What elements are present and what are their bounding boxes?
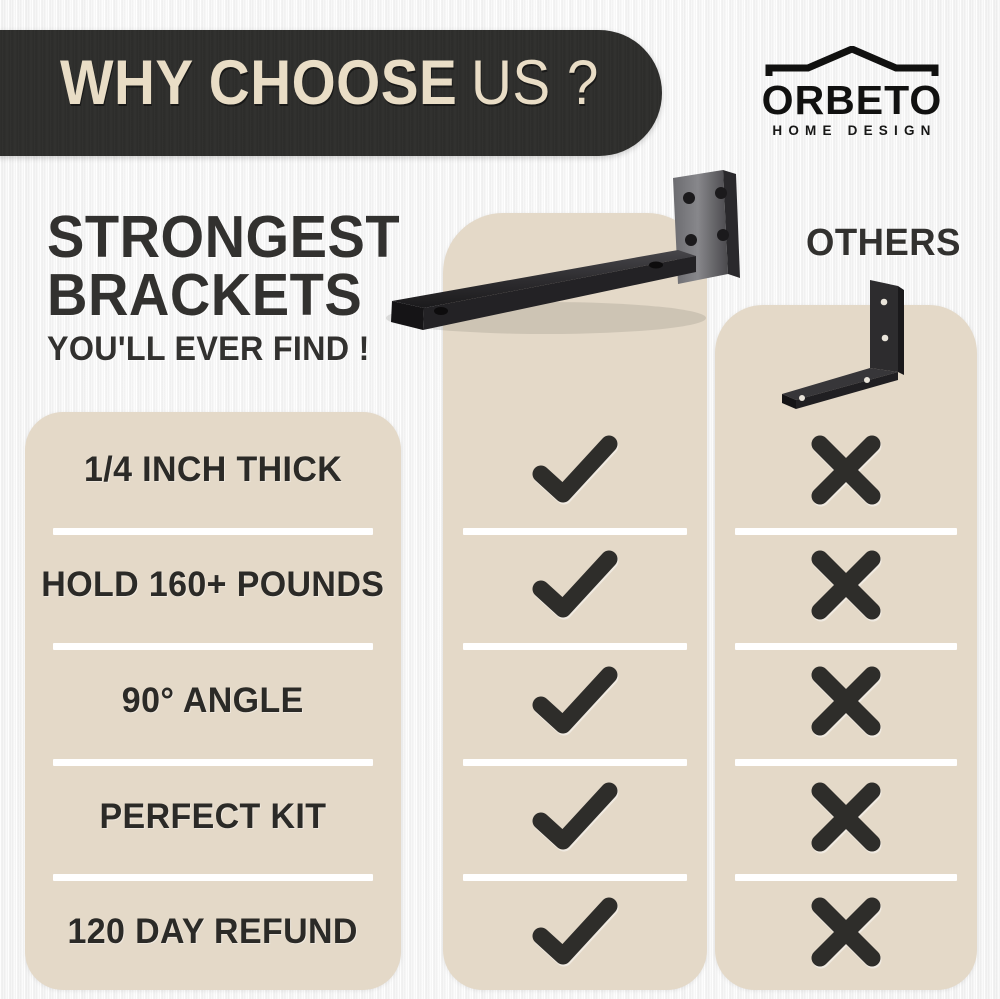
feature-label: 120 DAY REFUND bbox=[68, 912, 358, 952]
others-mark-row bbox=[715, 412, 977, 528]
feature-label: 1/4 INCH THICK bbox=[84, 450, 342, 490]
brand-logo: ORBETO HOME DESIGN bbox=[752, 46, 952, 138]
brand-name: ORBETO bbox=[752, 80, 952, 120]
feature-row: 120 DAY REFUND bbox=[25, 874, 401, 990]
us-mark-row bbox=[443, 759, 707, 875]
page-title-light: US ? bbox=[471, 50, 599, 116]
cross-icon bbox=[805, 545, 887, 625]
others-mark-row bbox=[715, 874, 977, 990]
us-mark-row bbox=[443, 412, 707, 528]
check-icon bbox=[527, 661, 623, 741]
headline-line-2: BRACKETS bbox=[47, 266, 400, 324]
feature-label: HOLD 160+ POUNDS bbox=[42, 565, 385, 605]
feature-label: PERFECT KIT bbox=[100, 797, 327, 837]
cross-icon bbox=[805, 430, 887, 510]
others-column-label: OTHERS bbox=[806, 222, 961, 265]
headline-line-1: STRONGEST bbox=[47, 208, 400, 266]
feature-row: 1/4 INCH THICK bbox=[25, 412, 401, 528]
features-panel: 1/4 INCH THICKHOLD 160+ POUNDS90° ANGLEP… bbox=[25, 412, 401, 990]
others-mark-row bbox=[715, 759, 977, 875]
check-icon bbox=[527, 892, 623, 972]
cross-icon bbox=[805, 777, 887, 857]
feature-row: PERFECT KIT bbox=[25, 759, 401, 875]
others-mark-row bbox=[715, 528, 977, 644]
headline-line-3: YOU'LL EVER FIND ! bbox=[47, 328, 400, 370]
others-row-list bbox=[715, 412, 977, 990]
brand-tagline: HOME DESIGN bbox=[752, 123, 952, 138]
infographic-page: WHY CHOOSEUS ? ORBETO HOME DESIGN STRONG… bbox=[0, 0, 1000, 999]
others-mark-row bbox=[715, 643, 977, 759]
check-icon bbox=[527, 545, 623, 625]
cross-icon bbox=[805, 661, 887, 741]
us-row-list bbox=[443, 412, 707, 990]
feature-row: HOLD 160+ POUNDS bbox=[25, 528, 401, 644]
cross-icon bbox=[805, 892, 887, 972]
page-title: WHY CHOOSEUS ? bbox=[60, 50, 613, 116]
product-image-other-bracket bbox=[768, 276, 928, 411]
page-title-strong: WHY CHOOSE bbox=[60, 50, 457, 116]
check-icon bbox=[527, 430, 623, 510]
features-row-list: 1/4 INCH THICKHOLD 160+ POUNDS90° ANGLEP… bbox=[25, 412, 401, 990]
headline: STRONGEST BRACKETS YOU'LL EVER FIND ! bbox=[47, 208, 419, 370]
feature-label: 90° ANGLE bbox=[122, 681, 304, 721]
us-mark-row bbox=[443, 528, 707, 644]
product-image-our-bracket bbox=[366, 168, 786, 368]
check-icon bbox=[527, 777, 623, 857]
us-mark-row bbox=[443, 643, 707, 759]
house-roof-icon bbox=[764, 46, 940, 78]
us-mark-row bbox=[443, 874, 707, 990]
feature-row: 90° ANGLE bbox=[25, 643, 401, 759]
